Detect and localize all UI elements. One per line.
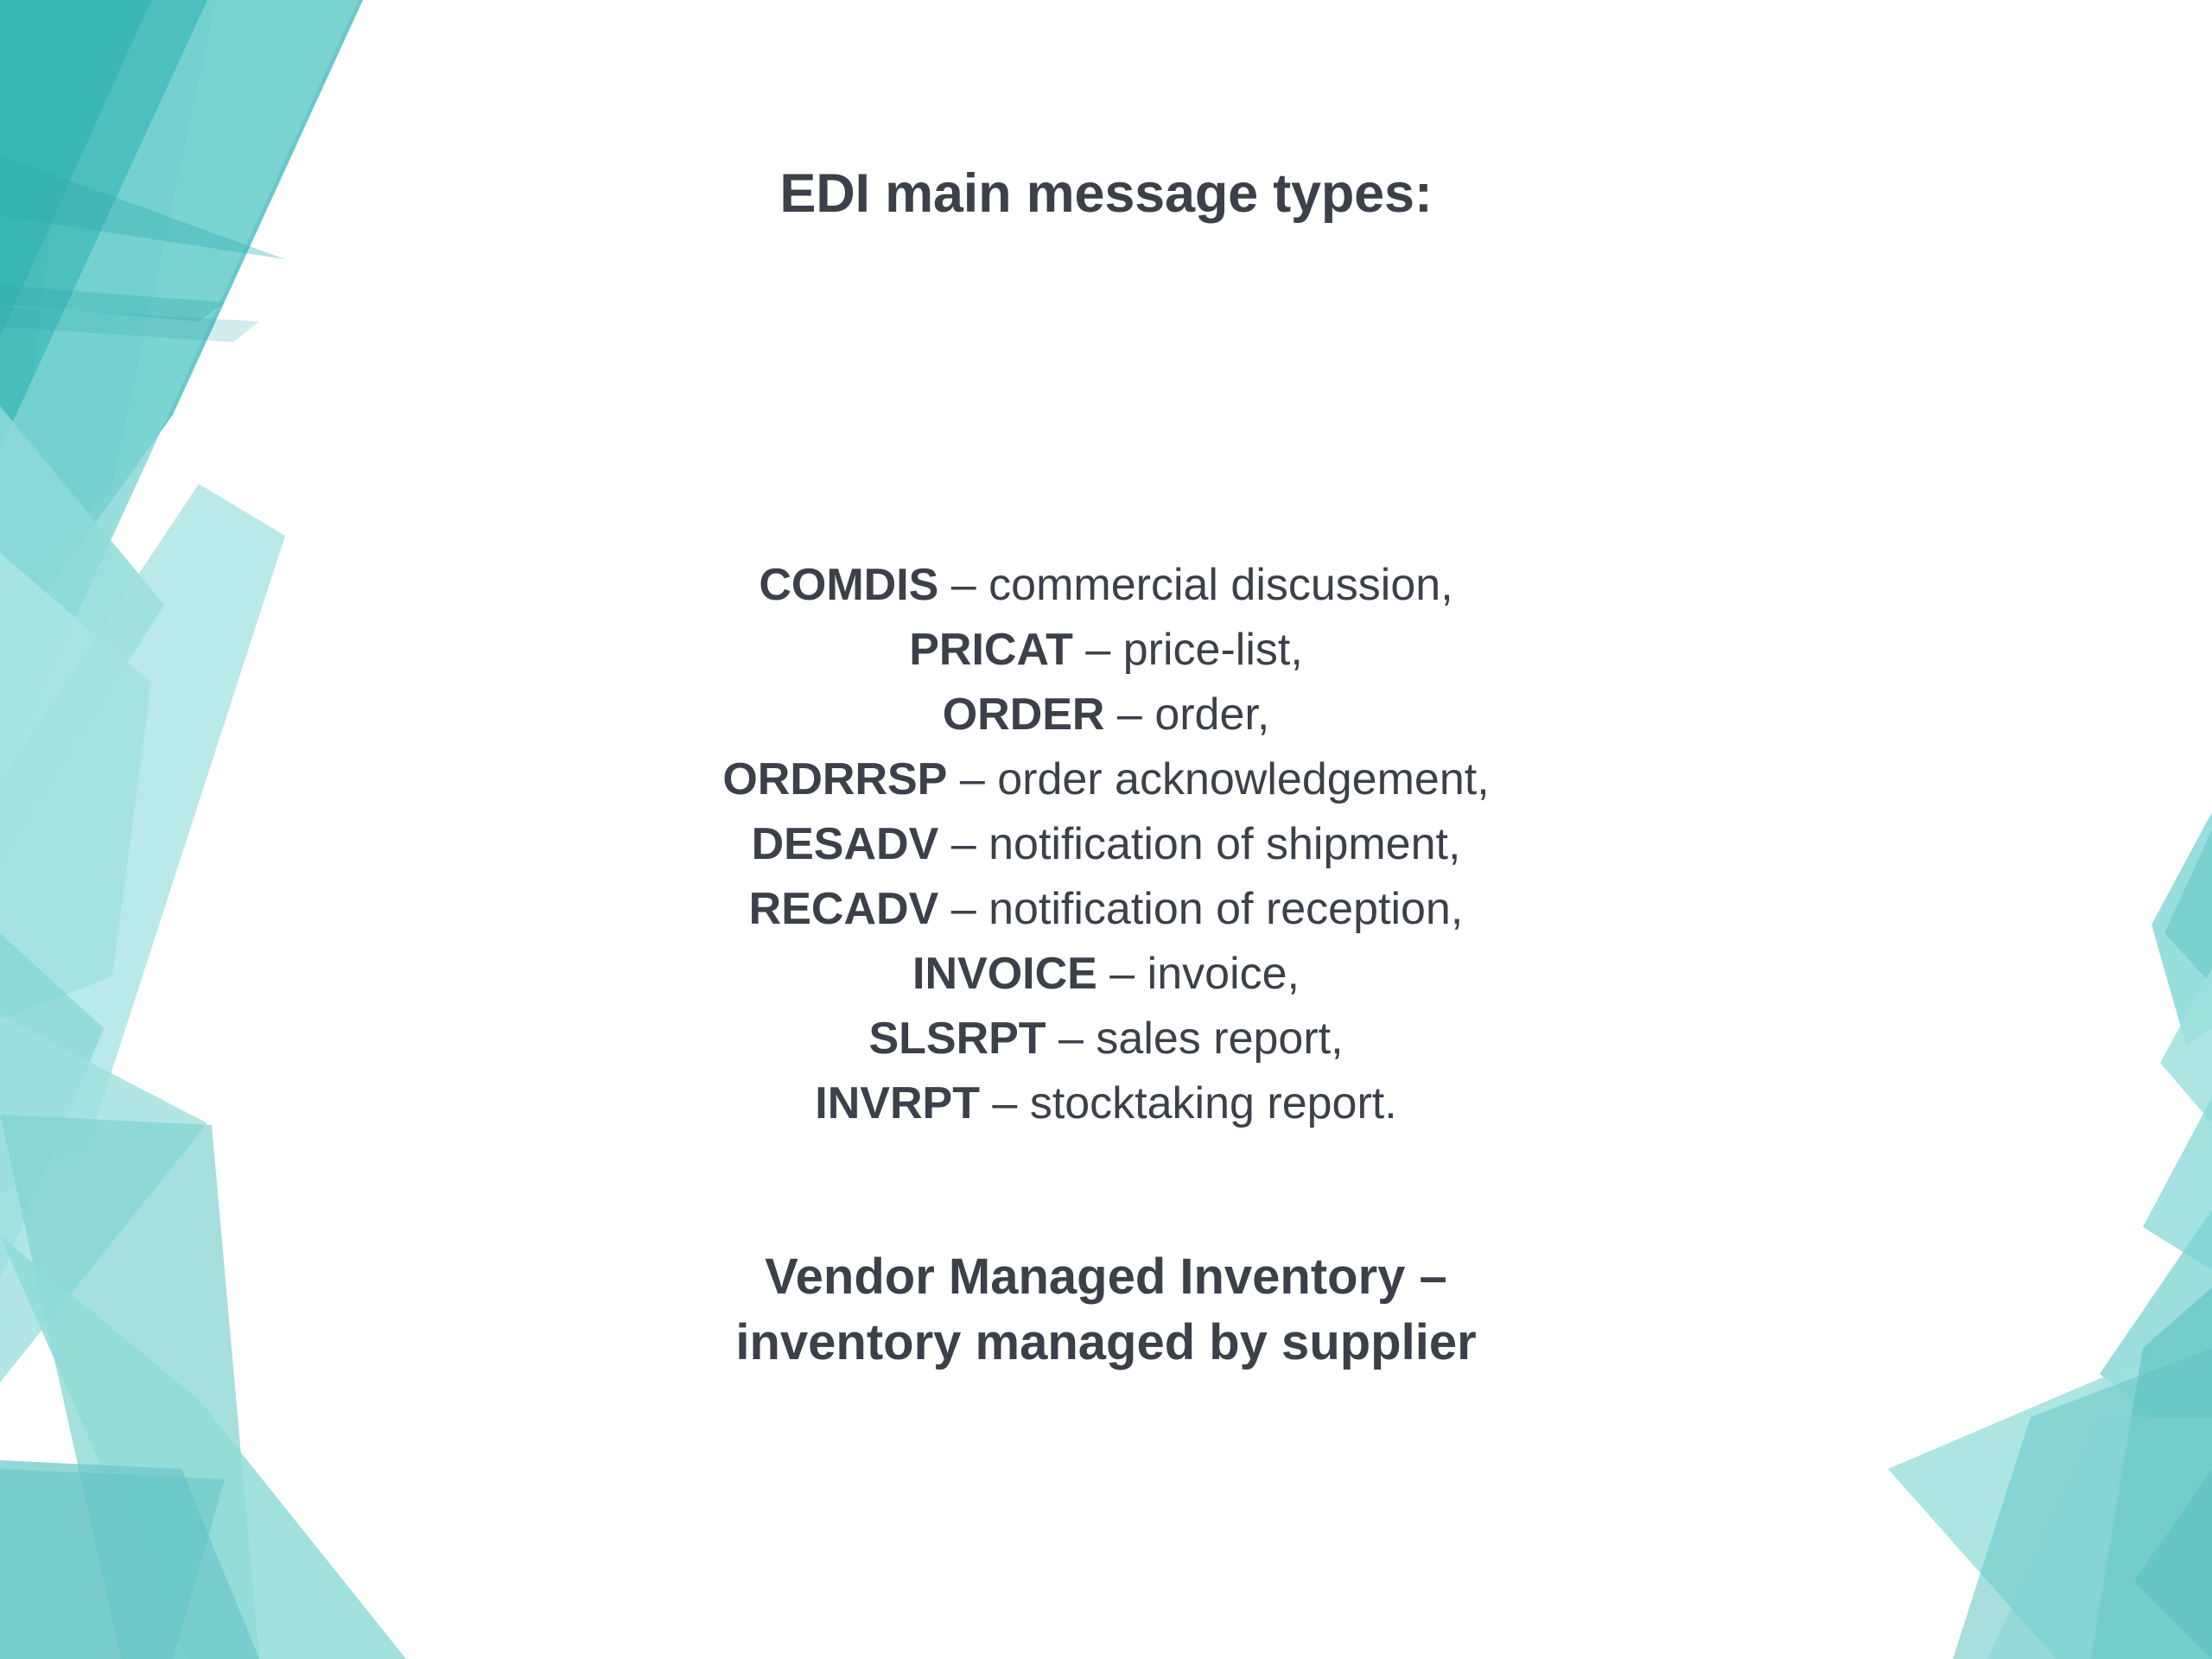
message-description: notification of shipment, (988, 819, 1460, 869)
message-code: RECADV (749, 884, 939, 934)
vmi-line-1: Vendor Managed Inventory – (328, 1244, 1884, 1310)
slide-title: EDI main message types: (328, 164, 1884, 224)
message-description: stocktaking report. (1030, 1078, 1397, 1128)
message-separator: – (947, 754, 997, 804)
message-code: PRICAT (909, 625, 1073, 675)
list-item: RECADV – notification of reception, (328, 877, 1884, 942)
message-description: price-list, (1123, 625, 1303, 675)
message-separator: – (1046, 1014, 1096, 1064)
message-code: INVRPT (815, 1078, 980, 1128)
list-item: INVRPT – stocktaking report. (328, 1071, 1884, 1136)
message-separator: – (1104, 690, 1154, 740)
list-item: ORDRRSP – order acknowledgement, (328, 747, 1884, 812)
message-separator: – (980, 1078, 1030, 1128)
slide-content: EDI main message types: COMDIS – commerc… (0, 0, 2212, 1659)
vmi-line-2: inventory managed by supplier (328, 1310, 1884, 1376)
vendor-managed-inventory-note: Vendor Managed Inventory – inventory man… (328, 1244, 1884, 1376)
list-item: DESADV – notification of shipment, (328, 812, 1884, 877)
message-description: order, (1154, 690, 1269, 740)
message-description: notification of reception, (988, 884, 1463, 934)
presentation-slide: EDI main message types: COMDIS – commerc… (0, 0, 2212, 1659)
message-separator: – (938, 819, 988, 869)
message-description: commercial discussion, (988, 560, 1453, 610)
message-code: COMDIS (759, 560, 938, 610)
list-item: INVOICE – invoice, (328, 942, 1884, 1007)
message-separator: – (1073, 625, 1123, 675)
message-code: INVOICE (912, 949, 1097, 999)
message-types-list: COMDIS – commercial discussion, PRICAT –… (328, 553, 1884, 1136)
message-description: sales report, (1096, 1014, 1343, 1064)
message-code: DESADV (752, 819, 939, 869)
message-code: SLSRPT (868, 1014, 1046, 1064)
message-separator: – (938, 884, 988, 934)
message-separator: – (1097, 949, 1147, 999)
message-types-block: COMDIS – commercial discussion, PRICAT –… (328, 553, 1884, 1136)
message-description: order acknowledgement, (997, 754, 1489, 804)
list-item: SLSRPT – sales report, (328, 1007, 1884, 1071)
message-separator: – (938, 560, 988, 610)
list-item: ORDER – order, (328, 683, 1884, 747)
message-code: ORDRRSP (722, 754, 947, 804)
message-code: ORDER (943, 690, 1105, 740)
list-item: PRICAT – price-list, (328, 618, 1884, 683)
list-item: COMDIS – commercial discussion, (328, 553, 1884, 618)
message-description: invoice, (1147, 949, 1300, 999)
